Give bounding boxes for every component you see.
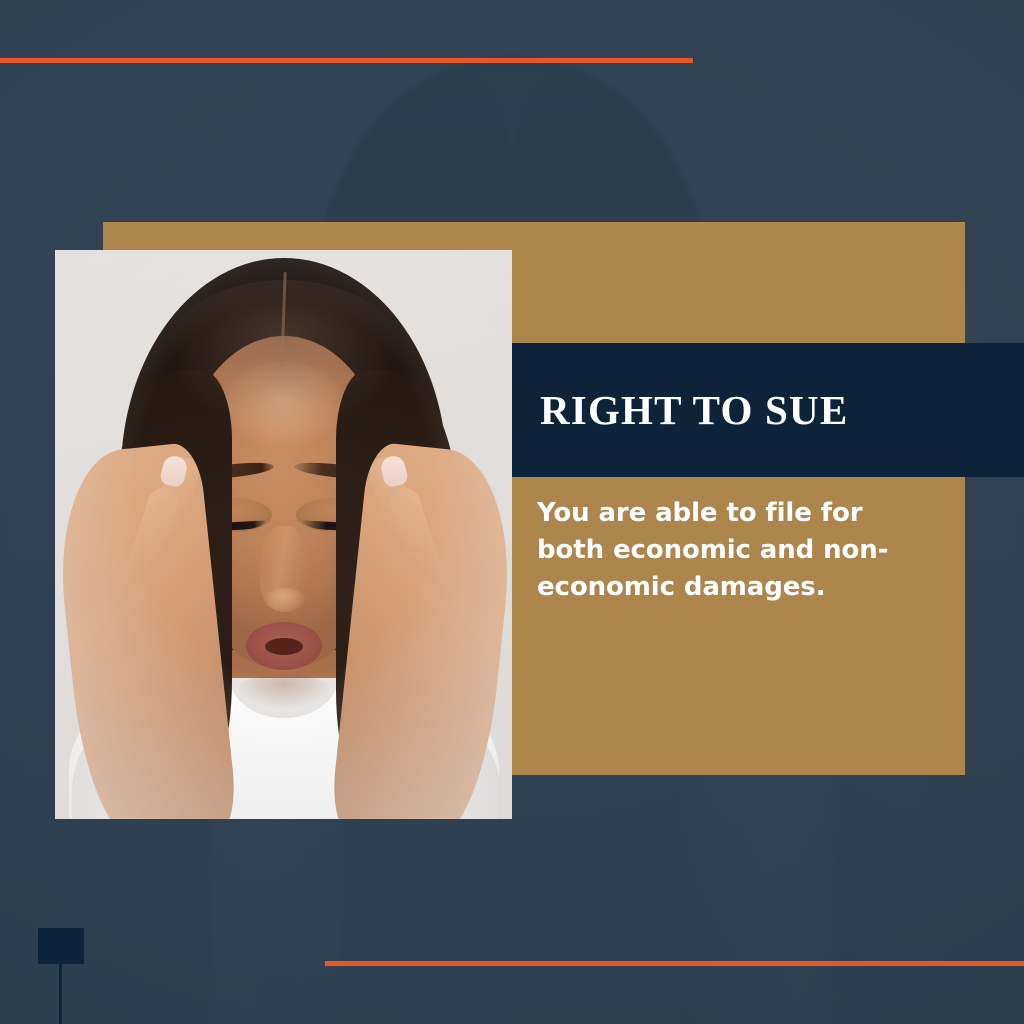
flag-stem-line — [59, 964, 62, 1024]
orange-rule-bottom — [325, 961, 1024, 966]
body-paragraph: You are able to file for both economic a… — [537, 495, 937, 606]
flag-head-square — [38, 928, 84, 964]
page-title: RIGHT TO SUE — [512, 390, 848, 431]
subject-nose-tip — [263, 588, 305, 612]
subject-mouth-opening — [265, 638, 303, 655]
portrait-subject — [55, 250, 512, 819]
title-band: RIGHT TO SUE — [512, 343, 1024, 477]
portrait-photo — [55, 250, 512, 819]
subject-chin-shadow — [236, 674, 332, 708]
social-graphic-canvas: RIGHT TO SUE You are able to file for bo… — [0, 0, 1024, 1024]
orange-rule-top — [0, 58, 693, 63]
